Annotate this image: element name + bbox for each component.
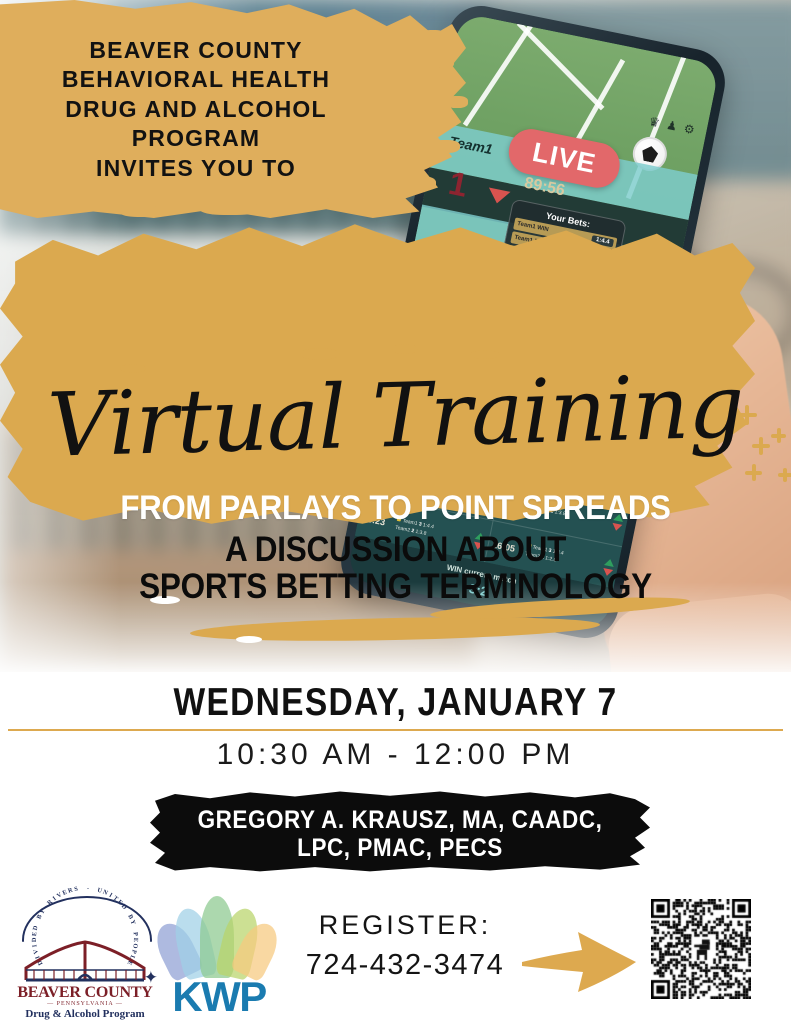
header-line-4: PROGRAM: [26, 124, 366, 153]
speaker-line-1: GREGORY A. KRAUSZ, MA, CAADC,: [175, 806, 625, 834]
brush-fleck: [420, 30, 446, 44]
gear-icon: ⚙: [683, 121, 696, 137]
beaver-county-logo: DIVIDED BY RIVERS - UNITED BY PEOPLE ✦ B…: [14, 896, 156, 1018]
header-line-5: INVITES YOU TO: [26, 154, 366, 183]
kwp-wordmark: KWP: [160, 976, 278, 1018]
shield-icon: ♛: [648, 114, 661, 130]
logo-program: Drug & Alcohol Program: [10, 1008, 160, 1020]
subtitle-black-line-2: SPORTS BETTING TERMINOLOGY: [40, 568, 752, 605]
logo-name: BEAVER COUNTY: [14, 984, 156, 1002]
brush-fleck: [200, 202, 260, 215]
logo-state: — PENNSYLVANIA —: [14, 1001, 156, 1007]
brush-fleck: [402, 176, 436, 191]
script-title: Virtual Training: [0, 361, 791, 471]
brush-fleck: [430, 140, 460, 153]
person-icon: ♟: [665, 118, 678, 134]
brush-gap-fleck: [236, 636, 262, 643]
event-date: WEDNESDAY, JANUARY 7: [55, 681, 735, 725]
right-arrow-icon: [520, 922, 640, 992]
kwp-logo: KWP: [160, 896, 278, 1018]
qr-code[interactable]: [651, 899, 751, 999]
subtitle-black: A DISCUSSION ABOUT SPORTS BETTING TERMIN…: [40, 531, 752, 606]
brush-fleck: [436, 58, 454, 68]
bridge-icon: [20, 940, 150, 984]
header-line-1: BEAVER COUNTY: [26, 36, 366, 65]
flyer-page: ♛ ♟ ⚙ Team1 1 Team2 2 LIVE 89:56 Your Be: [0, 0, 791, 1024]
register-label: REGISTER:: [290, 910, 520, 941]
speaker-name: GREGORY A. KRAUSZ, MA, CAADC, LPC, PMAC,…: [175, 806, 625, 863]
sparkle-icon: [745, 464, 762, 481]
brush-fleck: [290, 196, 330, 208]
brush-fleck: [300, 348, 340, 360]
sparkle-icon: [778, 468, 791, 482]
gold-divider: [8, 729, 783, 731]
speaker-line-2: LPC, PMAC, PECS: [175, 834, 625, 862]
brush-fleck: [470, 350, 500, 359]
subtitle-black-line-1: A DISCUSSION ABOUT: [40, 531, 752, 568]
header-line-2: BEHAVIORAL HEALTH: [26, 65, 366, 94]
register-phone[interactable]: 724-432-3474: [290, 949, 520, 982]
event-time: 10:30 AM - 12:00 PM: [0, 738, 791, 772]
header-invite-text: BEAVER COUNTY BEHAVIORAL HEALTH DRUG AND…: [26, 36, 366, 183]
header-line-3: DRUG AND ALCOHOL: [26, 95, 366, 124]
register-block: REGISTER: 724-432-3474: [290, 910, 520, 982]
brush-fleck: [120, 206, 164, 217]
brush-fleck: [392, 344, 418, 354]
subtitle-white: FROM PARLAYS TO POINT SPREADS: [32, 489, 760, 528]
brush-fleck: [446, 96, 468, 108]
